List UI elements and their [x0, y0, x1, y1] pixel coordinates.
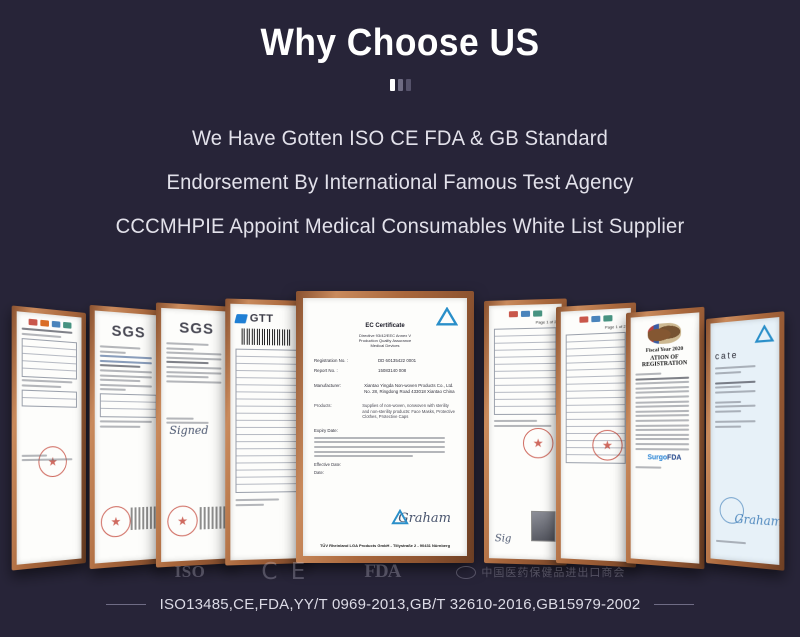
red-stamp: ★ — [167, 505, 197, 537]
certificate-wall: ★ SGS ★ SGS — [0, 283, 800, 563]
tuv-certificate-heading: cate — [715, 347, 774, 361]
tuv-rheinland-logo — [436, 307, 454, 323]
registration-label: Registration No. : — [314, 358, 372, 363]
cert-top-logos — [494, 310, 557, 318]
certificate-frame-fda-registration-certificate[interactable]: Fiscal Year 2020 ATION OF REGISTRATION S… — [626, 307, 704, 570]
fda-logo: FDA — [364, 561, 400, 583]
cert-table — [494, 327, 557, 415]
surgo-label: Surgo — [647, 454, 667, 461]
signature: Sig — [495, 533, 511, 544]
certificate-frame-chinese-test-report-page2[interactable]: Page 1 of 2 ★ — [556, 302, 636, 567]
fda-label: FDA — [667, 454, 681, 461]
page-title: Why Choose US — [28, 22, 772, 65]
ec-certificate-heading: EC Certificate — [314, 323, 456, 330]
certificate-paper: cate Graham — [711, 317, 780, 565]
divider-bar-3 — [406, 79, 411, 91]
cccmhpie-logo: 中国医药保健品进出口商会 — [456, 564, 625, 580]
product-photo — [531, 511, 555, 542]
subtitle-block: We Have Gotten ISO CE FDA & GB Standard … — [0, 117, 800, 249]
report-label: Report No. : — [314, 368, 372, 373]
barcode — [242, 328, 292, 345]
certification-logo-bar: ISO C E FDA 中国医药保健品进出口商会 — [0, 552, 800, 592]
page-header: Why Choose US — [0, 0, 800, 91]
products-label: Products: — [314, 403, 356, 420]
cert-table — [22, 338, 77, 380]
certificate-paper: EC Certificate Directive 93/42/EEC Annex… — [303, 298, 467, 556]
certificate-frame-sgs-test-report-1[interactable]: SGS ★ — [90, 305, 166, 569]
divider-bar-2 — [398, 79, 403, 91]
subtitle-line-3: CCCMHPIE Appoint Medical Consumables Whi… — [16, 205, 784, 249]
ec-certificate-line4: Medical Devices — [314, 343, 456, 348]
cert-top-logos — [566, 314, 626, 323]
certificate-paper: Page 1 of 2 ★ — [561, 308, 631, 562]
red-stamp: ★ — [101, 506, 131, 539]
certificate-paper: SGS Signed ★ — [161, 308, 231, 562]
certificate-frame-tuv-certificate[interactable]: cate Graham — [706, 311, 784, 571]
effective-label: Effective Date: — [314, 462, 360, 467]
page-label: Page 1 of 2 — [566, 324, 626, 332]
gtt-logo: GTT — [235, 312, 298, 326]
ce-logo: C E — [261, 559, 308, 585]
cccmhpie-label: 中国医药保健品进出口商会 — [481, 564, 625, 580]
certificate-frame-chinese-inspection-report[interactable]: ★ — [12, 305, 86, 570]
certificate-paper: SGS ★ — [95, 310, 162, 563]
subtitle-line-2: Endorsement By International Famous Test… — [16, 161, 784, 205]
certificate-paper: Fiscal Year 2020 ATION OF REGISTRATION S… — [631, 312, 700, 563]
cert-table — [235, 349, 298, 493]
cccmhpie-mark-icon — [456, 566, 476, 579]
certificate-paper: Page 1 of 2 ★ Sig — [489, 304, 562, 561]
certificate-paper: GTT — [230, 304, 303, 561]
sgs-logo: SGS — [100, 321, 157, 342]
red-stamp: ★ — [38, 446, 66, 477]
red-stamp: ★ — [523, 428, 553, 458]
eagle-emblem-icon — [648, 322, 681, 345]
certificate-frame-chinese-test-report-page1[interactable]: Page 1 of 2 ★ Sig — [484, 298, 567, 565]
standards-rule-left — [106, 604, 146, 605]
qr-code — [131, 506, 156, 530]
tuv-seal-icon — [391, 509, 409, 530]
signature: Graham — [735, 512, 780, 530]
standards-rule-right — [654, 604, 694, 605]
page-label: Page 1 of 2 — [494, 319, 557, 326]
certificate-frame-ec-certificate-tuv[interactable]: EC Certificate Directive 93/42/EEC Annex… — [296, 291, 474, 563]
red-stamp: ★ — [592, 430, 622, 461]
gtt-mark-icon — [234, 314, 248, 323]
products-value: Supplies of non-woven, nonwoven with ste… — [362, 403, 456, 420]
iso-logo: ISO — [175, 562, 206, 582]
signature: Signed — [169, 424, 208, 437]
title-divider — [385, 79, 415, 91]
date-label: Date: — [314, 470, 360, 475]
qr-code — [200, 506, 226, 529]
certificate-frame-sgs-test-report-2[interactable]: SGS Signed ★ — [156, 302, 236, 567]
surgo-fda-logo: SurgoFDA — [635, 454, 694, 462]
report-no: 15083140 008 — [378, 368, 406, 373]
standards-text: ISO13485,CE,FDA,YY/T 0969-2013,GB/T 3261… — [160, 596, 641, 613]
expiry-label: Expiry Date: — [314, 428, 360, 433]
divider-bar-1 — [390, 79, 395, 91]
manufacturer-value: Xiantao Yingda Non-woven Products Co., L… — [364, 383, 456, 395]
ec-certificate-footer: TÜV Rheinland LGA Products GmbH - Tillys… — [313, 543, 457, 548]
fda-line2: ATION OF REGISTRATION — [635, 353, 694, 368]
manufacturer-label: Manufacturer: — [314, 383, 358, 395]
subtitle-line-1: We Have Gotten ISO CE FDA & GB Standard — [16, 117, 784, 161]
certificate-paper: ★ — [17, 311, 82, 565]
standards-bar: ISO13485,CE,FDA,YY/T 0969-2013,GB/T 3261… — [0, 596, 800, 613]
sgs-logo: SGS — [166, 318, 226, 338]
registration-no: DD 60135422 0001 — [378, 358, 416, 363]
tuv-rheinland-logo — [755, 324, 773, 342]
